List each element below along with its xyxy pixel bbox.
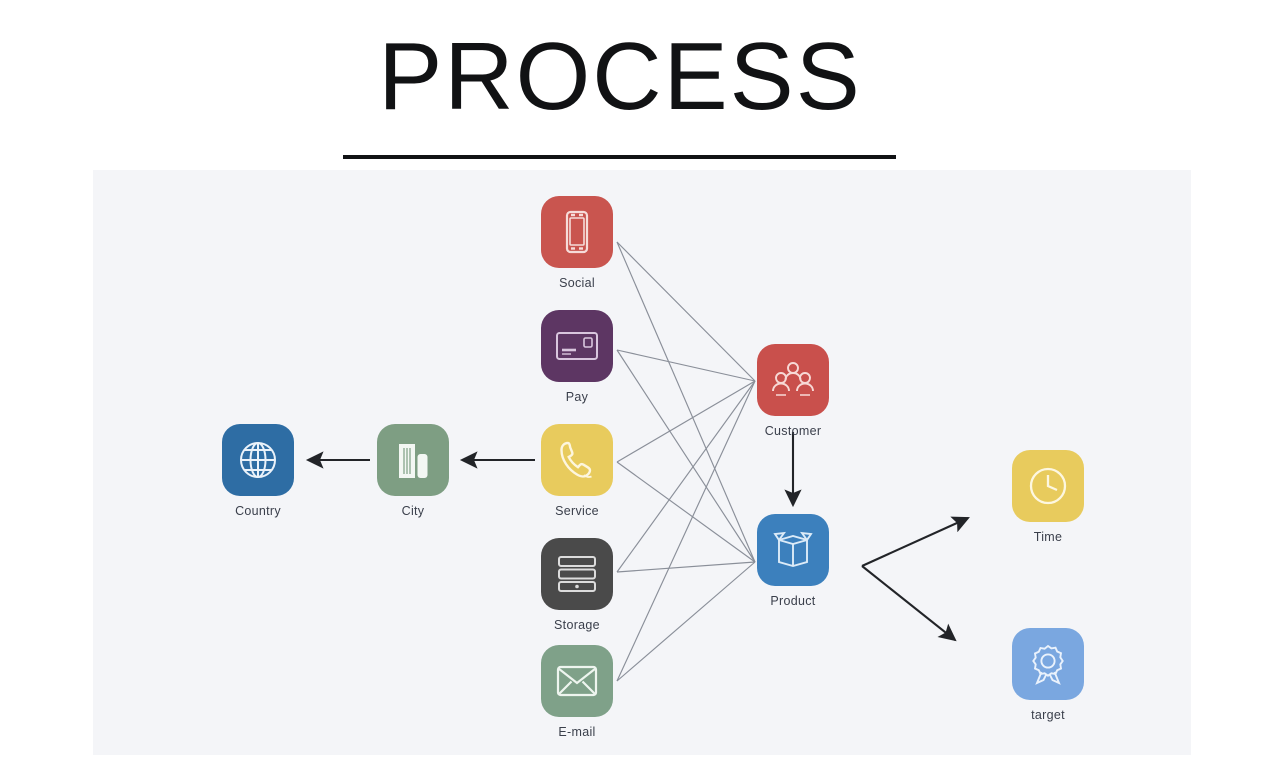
globe-icon (235, 437, 281, 483)
title-underline (343, 155, 896, 159)
node-country[interactable]: Country (222, 424, 294, 518)
node-target[interactable]: target (1012, 628, 1084, 722)
title-block: PROCESS (340, 22, 900, 167)
clock-icon (1026, 464, 1070, 508)
customer-tile[interactable] (757, 344, 829, 416)
node-service[interactable]: Service (541, 424, 613, 518)
service-tile[interactable] (541, 424, 613, 496)
box-package-icon (770, 528, 816, 572)
product-tile[interactable] (757, 514, 829, 586)
target-tile[interactable] (1012, 628, 1084, 700)
storage-tile[interactable] (541, 538, 613, 610)
node-label: Pay (541, 390, 613, 404)
award-badge-icon (1026, 642, 1070, 686)
node-label: Country (222, 504, 294, 518)
node-email[interactable]: E-mail (541, 645, 613, 739)
node-city[interactable]: City (377, 424, 449, 518)
credit-card-icon (554, 329, 600, 363)
node-label: target (1012, 708, 1084, 722)
server-stack-icon (555, 554, 599, 594)
node-label: Product (757, 594, 829, 608)
time-tile[interactable] (1012, 450, 1084, 522)
node-label: Storage (541, 618, 613, 632)
people-group-icon (770, 359, 816, 401)
country-tile[interactable] (222, 424, 294, 496)
social-tile[interactable] (541, 196, 613, 268)
phone-handset-icon (554, 437, 600, 483)
node-label: E-mail (541, 725, 613, 739)
smartphone-icon (557, 209, 597, 255)
envelope-icon (555, 664, 599, 698)
node-label: Customer (757, 424, 829, 438)
page-title: PROCESS (340, 22, 900, 132)
node-social[interactable]: Social (541, 196, 613, 290)
pay-tile[interactable] (541, 310, 613, 382)
node-storage[interactable]: Storage (541, 538, 613, 632)
buildings-icon (391, 438, 435, 482)
node-time[interactable]: Time (1012, 450, 1084, 544)
node-label: Service (541, 504, 613, 518)
node-label: City (377, 504, 449, 518)
node-label: Social (541, 276, 613, 290)
node-customer[interactable]: Customer (757, 344, 829, 438)
email-tile[interactable] (541, 645, 613, 717)
node-label: Time (1012, 530, 1084, 544)
diagram-page: PROCESS (0, 0, 1280, 768)
city-tile[interactable] (377, 424, 449, 496)
node-product[interactable]: Product (757, 514, 829, 608)
node-pay[interactable]: Pay (541, 310, 613, 404)
